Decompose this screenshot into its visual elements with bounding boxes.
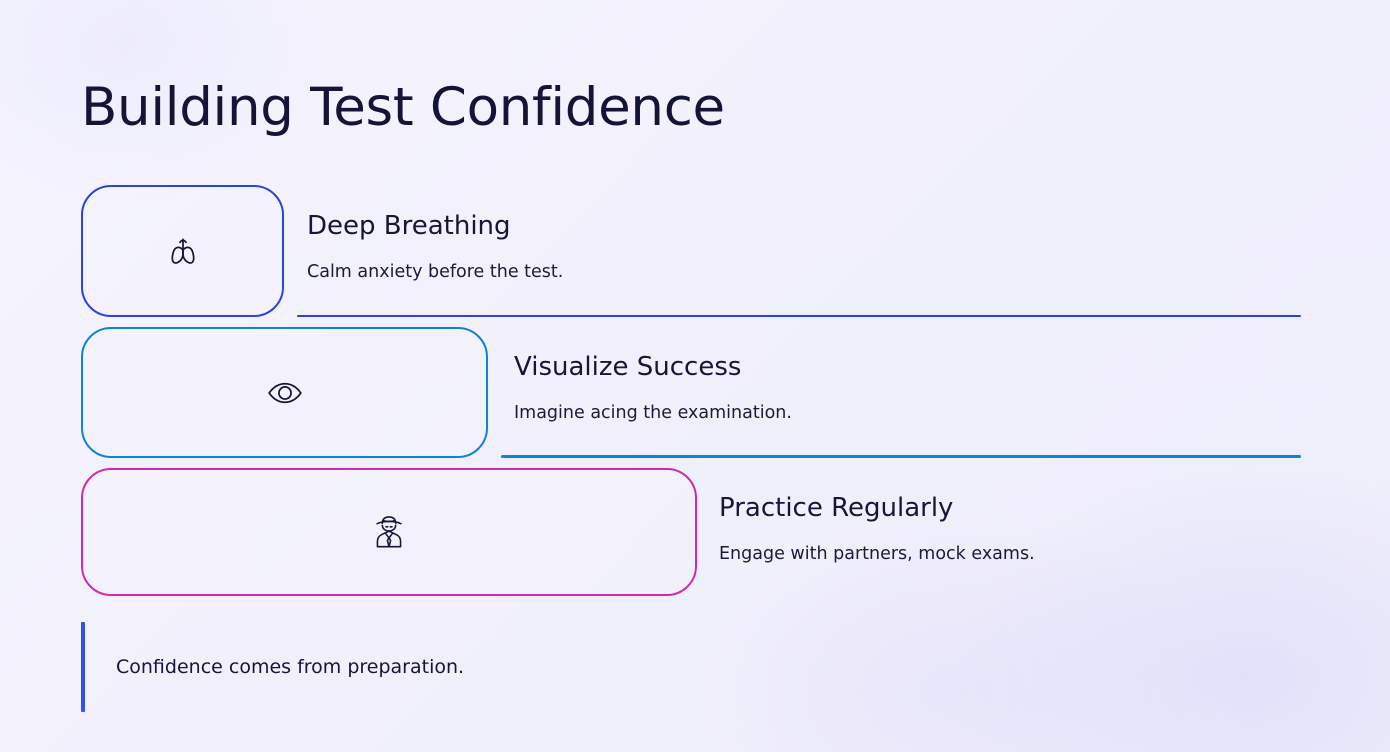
feature-description: Calm anxiety before the test. [307, 260, 563, 284]
feature-description: Engage with partners, mock exams. [719, 542, 1035, 566]
page-title: Building Test Confidence [81, 75, 725, 141]
feature-text-practice-regularly: Practice Regularly Engage with partners,… [719, 492, 1035, 566]
feature-title: Deep Breathing [307, 210, 563, 242]
footer-callout: Confidence comes from preparation. [81, 622, 464, 712]
feature-card-visualize-success[interactable] [81, 327, 488, 458]
feature-text-visualize-success: Visualize Success Imagine acing the exam… [514, 351, 792, 425]
footer-text: Confidence comes from preparation. [116, 654, 464, 680]
eye-icon [265, 373, 305, 413]
feature-text-deep-breathing: Deep Breathing Calm anxiety before the t… [307, 210, 563, 284]
divider-line-2 [501, 455, 1301, 458]
detective-icon [370, 511, 408, 553]
feature-card-practice-regularly[interactable] [81, 468, 697, 596]
lungs-icon [163, 231, 203, 271]
feature-description: Imagine acing the examination. [514, 401, 792, 425]
feature-title: Practice Regularly [719, 492, 1035, 524]
divider-line-1 [297, 315, 1301, 317]
slide-canvas: Building Test Confidence Deep Breathing … [0, 0, 1390, 752]
footer-accent-bar [81, 622, 85, 712]
feature-card-deep-breathing[interactable] [81, 185, 284, 317]
feature-title: Visualize Success [514, 351, 792, 383]
